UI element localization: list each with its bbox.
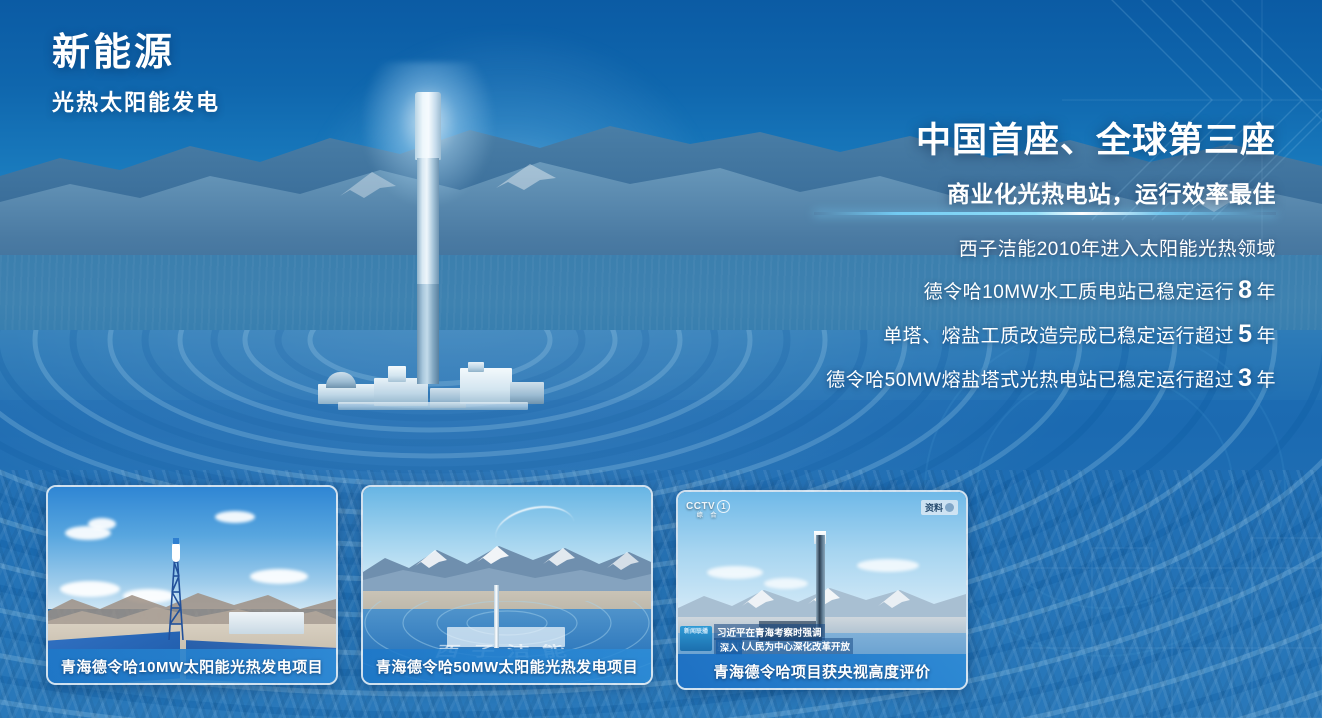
thumb1-plant — [229, 612, 304, 634]
news-program-badge: 新闻联播 — [680, 626, 712, 651]
slide-root: 新能源 光热太阳能发电 中国首座、全球第三座 商业化光热电站，运行效率最佳 西子… — [0, 0, 1322, 718]
thumbnail-card-2[interactable]: 西子洁能 青海德令哈50MW太阳能光热发电项目 — [361, 485, 653, 685]
bullet-text: 西子洁能2010年进入太阳能光热领域 — [959, 239, 1276, 260]
thumb3-tower — [816, 535, 825, 637]
title-block: 新能源 光热太阳能发电 — [52, 32, 220, 117]
cctv-logo-icon: CCTV1 综 合 — [686, 500, 730, 519]
bullet-suffix: 年 — [1256, 282, 1276, 303]
bullet-number: 8 — [1234, 276, 1256, 304]
list-item: 西子洁能2010年进入太阳能光热领域 — [806, 234, 1276, 261]
thumbnail-caption-1: 青海德令哈10MW太阳能光热发电项目 — [48, 649, 336, 683]
bullet-number: 3 — [1234, 364, 1256, 392]
cctv-channel-sub: 综 合 — [686, 513, 730, 519]
grid-decor-icon — [1022, 528, 1322, 718]
headline-secondary: 商业化光热电站，运行效率最佳 — [876, 175, 1276, 209]
thumbnail-card-1[interactable]: 青海德令哈10MW太阳能光热发电项目 — [46, 485, 338, 685]
cctv-channel-number: 1 — [717, 500, 730, 513]
page-title: 新能源 — [52, 32, 220, 76]
thumbnail-strip: 青海德令哈10MW太阳能光热发电项目 — [46, 485, 976, 689]
bullet-prefix: 德令哈10MW水工质电站已稳定运行 — [924, 282, 1234, 303]
list-item: 德令哈10MW水工质电站已稳定运行8年 — [806, 276, 1276, 305]
source-badge: 资料 — [921, 500, 958, 515]
bullet-suffix: 年 — [1256, 370, 1276, 391]
tower-receiver — [415, 92, 441, 160]
news-tag: 深入 — [716, 640, 742, 655]
solar-tower — [404, 88, 454, 388]
bullet-list: 西子洁能2010年进入太阳能光热领域 德令哈10MW水工质电站已稳定运行8年 单… — [806, 234, 1276, 408]
news-lower-third: 新闻联播 习近平在青海考察时强调 坚持以人民为中心深化改革开放 深入 — [678, 624, 966, 654]
page-subtitle: 光热太阳能发电 — [52, 85, 220, 117]
list-item: 单塔、熔盐工质改造完成已稳定运行超过5年 — [806, 320, 1276, 349]
tower-shaft-lower — [417, 284, 439, 384]
source-badge-dot-icon — [945, 503, 954, 512]
bullet-prefix: 单塔、熔盐工质改造完成已稳定运行超过 — [883, 326, 1234, 347]
headline-primary: 中国首座、全球第三座 — [876, 112, 1276, 163]
bullet-prefix: 德令哈50MW熔盐塔式光热电站已稳定运行超过 — [826, 370, 1234, 391]
bullet-suffix: 年 — [1256, 326, 1276, 347]
source-badge-label: 资料 — [925, 503, 943, 513]
cctv-channel: CCTV — [686, 501, 715, 512]
list-item: 德令哈50MW熔盐塔式光热电站已稳定运行超过3年 — [806, 364, 1276, 393]
thumbnail-card-3[interactable]: CCTV1 综 合 资料 新闻联播 习近平在青海考察时强调 坚持以人民为中心深化… — [676, 490, 968, 690]
headline-panel: 中国首座、全球第三座 商业化光热电站，运行效率最佳 西子洁能2010年进入太阳能… — [876, 112, 1276, 209]
bullet-number: 5 — [1234, 320, 1256, 348]
glow-divider — [814, 212, 1276, 215]
thumbnail-caption-2: 青海德令哈50MW太阳能光热发电项目 — [363, 649, 651, 683]
thumb1-lattice-tower — [166, 538, 186, 640]
thumbnail-caption-3: 青海德令哈项目获央视高度评价 — [678, 654, 966, 688]
thumb2-mountains — [363, 538, 651, 597]
